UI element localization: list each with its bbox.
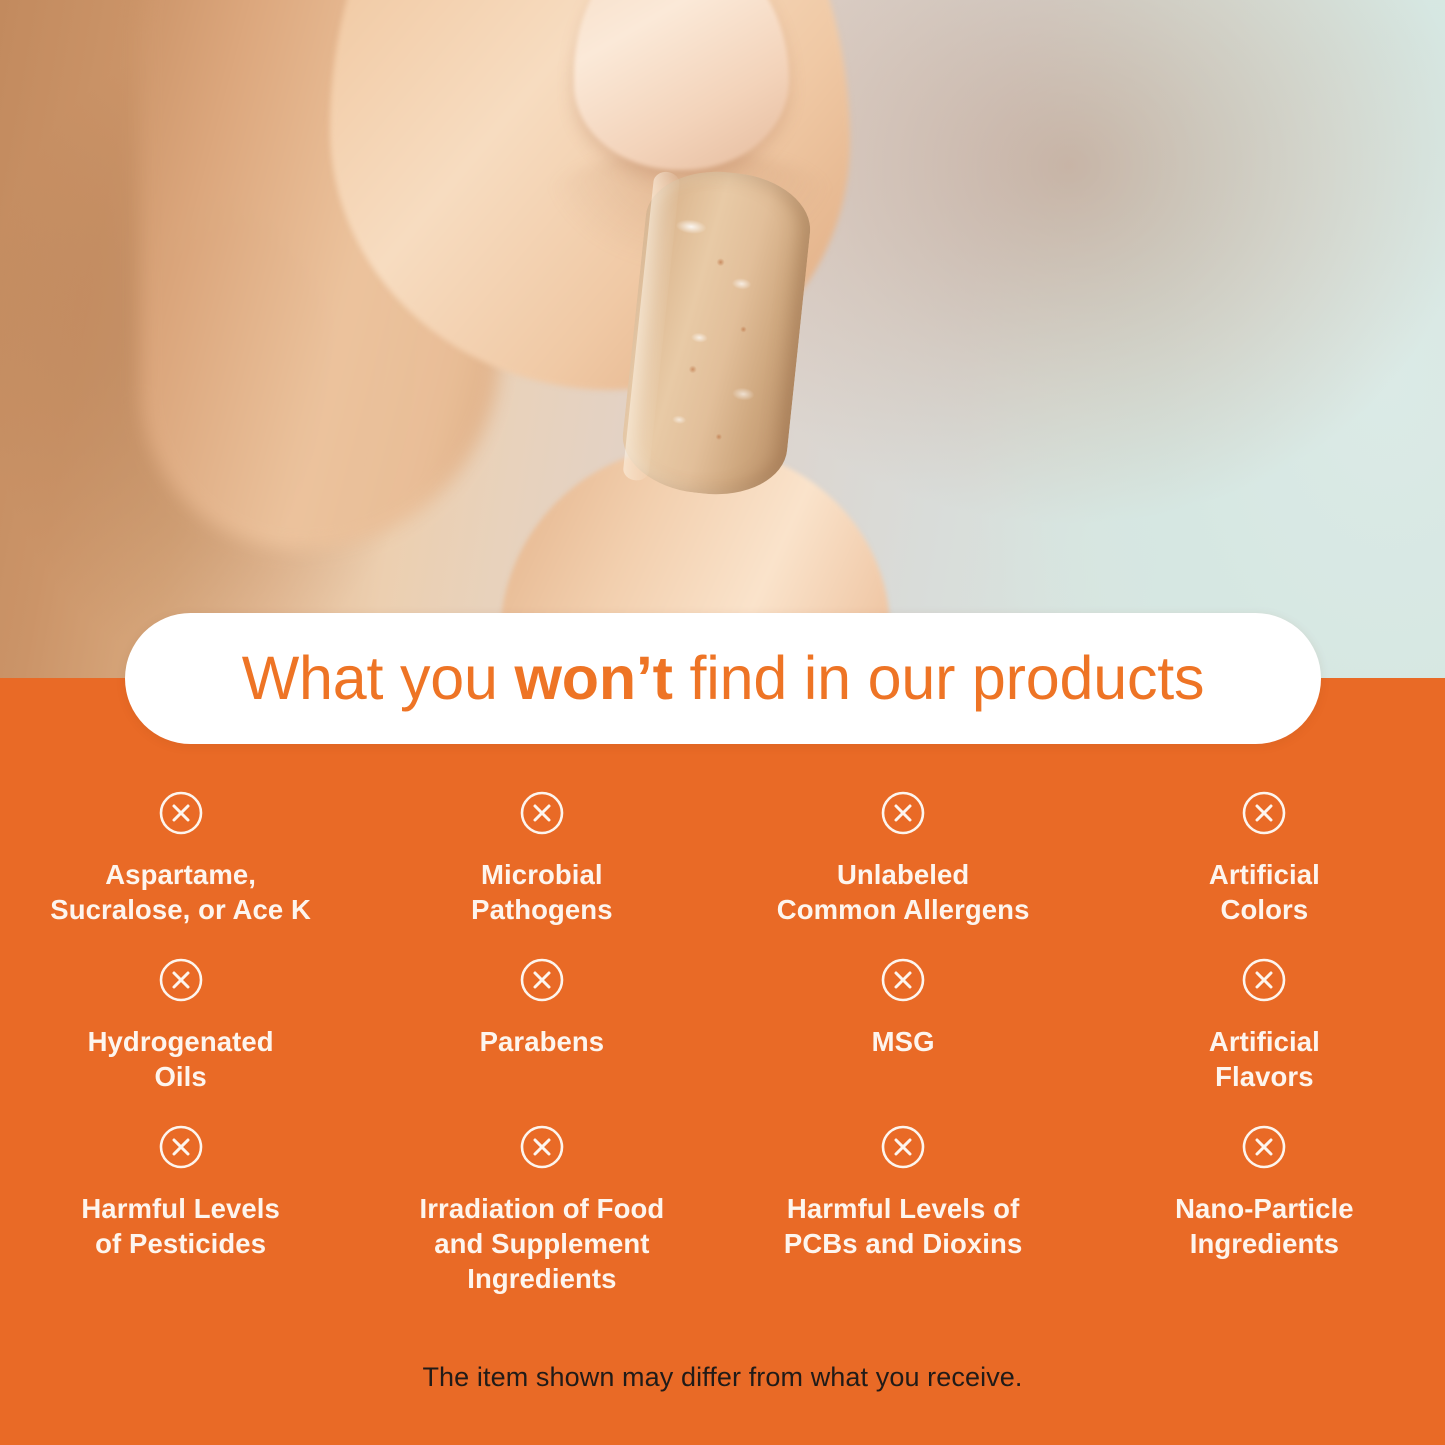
grid-item-label: Harmful Levels ofPCBs and Dioxins bbox=[784, 1192, 1022, 1262]
grid-item: MicrobialPathogens bbox=[361, 790, 722, 957]
excluded-ingredients-grid: Aspartame,Sucralose, or Ace K MicrobialP… bbox=[0, 790, 1445, 1314]
grid-item: ArtificialColors bbox=[1084, 790, 1445, 957]
hand-holding-tablet-photo bbox=[0, 0, 1445, 690]
grid-item-label: ArtificialColors bbox=[1209, 858, 1320, 928]
grid-item: Parabens bbox=[361, 957, 722, 1124]
circle-x-icon bbox=[1241, 1124, 1287, 1170]
supplement-tablet bbox=[618, 164, 816, 501]
grid-item-label: Aspartame,Sucralose, or Ace K bbox=[50, 858, 311, 928]
circle-x-icon bbox=[1241, 790, 1287, 836]
grid-item-label: ArtificialFlavors bbox=[1209, 1025, 1320, 1095]
circle-x-icon bbox=[519, 957, 565, 1003]
grid-item: Irradiation of Foodand SupplementIngredi… bbox=[361, 1124, 722, 1314]
grid-item: Harmful Levels ofPCBs and Dioxins bbox=[723, 1124, 1084, 1314]
thumbnail bbox=[574, 0, 789, 170]
circle-x-icon bbox=[1241, 957, 1287, 1003]
grid-row: Harmful Levelsof Pesticides Irradiation … bbox=[0, 1124, 1445, 1314]
circle-x-icon bbox=[158, 1124, 204, 1170]
circle-x-icon bbox=[880, 1124, 926, 1170]
circle-x-icon bbox=[880, 957, 926, 1003]
grid-item-label: HydrogenatedOils bbox=[88, 1025, 274, 1095]
circle-x-icon bbox=[519, 790, 565, 836]
grid-item-label: Nano-ParticleIngredients bbox=[1175, 1192, 1354, 1262]
grid-item: Nano-ParticleIngredients bbox=[1084, 1124, 1445, 1314]
title-suffix: find in our products bbox=[673, 644, 1205, 712]
product-claims-infographic: What you won’t find in our products Aspa… bbox=[0, 0, 1445, 1445]
grid-item: UnlabeledCommon Allergens bbox=[723, 790, 1084, 957]
grid-item-label: MicrobialPathogens bbox=[471, 858, 612, 928]
title-pill: What you won’t find in our products bbox=[125, 613, 1321, 744]
grid-item-label: MSG bbox=[872, 1025, 935, 1060]
title-prefix: What you bbox=[242, 644, 515, 712]
grid-item: HydrogenatedOils bbox=[0, 957, 361, 1124]
title-emphasis: won’t bbox=[515, 644, 673, 712]
circle-x-icon bbox=[519, 1124, 565, 1170]
grid-row: HydrogenatedOils Parabens MSG Artificial… bbox=[0, 957, 1445, 1124]
grid-item: ArtificialFlavors bbox=[1084, 957, 1445, 1124]
grid-item-label: UnlabeledCommon Allergens bbox=[777, 858, 1030, 928]
circle-x-icon bbox=[158, 790, 204, 836]
grid-row: Aspartame,Sucralose, or Ace K MicrobialP… bbox=[0, 790, 1445, 957]
page-title: What you won’t find in our products bbox=[242, 648, 1205, 709]
grid-item-label: Irradiation of Foodand SupplementIngredi… bbox=[419, 1192, 664, 1297]
grid-item-label: Parabens bbox=[480, 1025, 605, 1060]
footer: The item shown may differ from what you … bbox=[0, 1362, 1445, 1393]
grid-item: Aspartame,Sucralose, or Ace K bbox=[0, 790, 361, 957]
disclaimer-text: The item shown may differ from what you … bbox=[422, 1362, 1022, 1392]
grid-item-label: Harmful Levelsof Pesticides bbox=[81, 1192, 280, 1262]
grid-item: MSG bbox=[723, 957, 1084, 1124]
circle-x-icon bbox=[880, 790, 926, 836]
circle-x-icon bbox=[158, 957, 204, 1003]
grid-item: Harmful Levelsof Pesticides bbox=[0, 1124, 361, 1314]
